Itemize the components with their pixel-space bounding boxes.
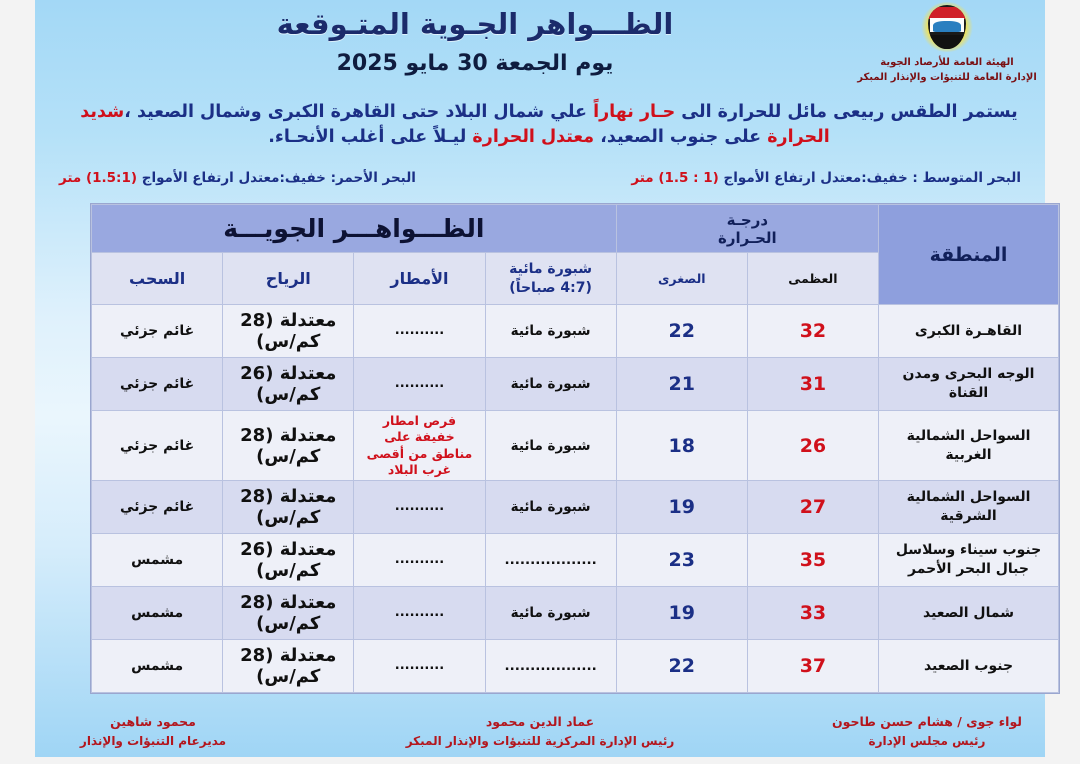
- cell-fog: شبورة مائية: [485, 358, 616, 411]
- red-sea-wave-height: (1.5:1) متر: [59, 170, 137, 186]
- cell-wind: معتدلة (28 كم/س): [223, 587, 354, 640]
- summary-part-7: ليـلاً على أغلب الأنحـاء.: [268, 127, 472, 147]
- cell-max-temp: 32: [747, 305, 878, 358]
- egypt-meteorological-authority-logo-icon: [919, 2, 975, 54]
- signature-name: عماد الدين محمود: [406, 712, 675, 732]
- column-header-fog: شبورة مائية (4:7 صباحاً): [485, 253, 616, 305]
- cell-rain: ..........: [354, 305, 485, 358]
- cell-region: السواحل الشمالية الغربية: [879, 411, 1059, 481]
- poster-page: الظـــواهر الجـوية المتـوقعة يوم الجمعة …: [0, 0, 1080, 764]
- table-row: جنوب الصعيد3722.........................…: [92, 640, 1059, 693]
- cell-fog: ..................: [485, 640, 616, 693]
- signature-role: رئيس مجلس الإدارة: [827, 732, 1027, 751]
- cell-max-temp: 35: [747, 534, 878, 587]
- cell-region: جنوب سيناء وسلاسل جبال البحر الأحمر: [879, 534, 1059, 587]
- authority-name-line1: الهيئة العامة للأرصاد الجوية: [857, 56, 1037, 71]
- fog-header-line2: (4:7 صباحاً): [486, 279, 616, 297]
- title-block: الظـــواهر الجـوية المتـوقعة يوم الجمعة …: [35, 6, 915, 76]
- cell-cloud: مشمس: [92, 640, 223, 693]
- forecast-table: المنطقة درجـة الحـرارة الظـــواهـــر الج…: [91, 204, 1059, 693]
- cell-rain: فرص امطار خفيفة على مناطق من أقصى غرب ال…: [354, 411, 485, 481]
- column-header-wind: الرياح: [223, 253, 354, 305]
- column-header-phenomena: الظـــواهـــر الجويـــة: [92, 205, 617, 253]
- cell-cloud: مشمس: [92, 534, 223, 587]
- column-header-cloud: السحب: [92, 253, 223, 305]
- temperature-header-line2: الحـرارة: [617, 229, 878, 247]
- signature-block-2: عماد الدين محمودرئيس الإدارة المركزية لل…: [406, 712, 675, 751]
- cell-rain: ..........: [354, 640, 485, 693]
- summary-part-1: يستمر الطقس ربيعى مائل للحرارة الى: [675, 102, 1018, 122]
- table-row: الوجه البحرى ومدن القناة3121شبورة مائية.…: [92, 358, 1059, 411]
- cell-max-temp: 33: [747, 587, 878, 640]
- mediterranean-wave-height: (1 : 1.5) متر: [631, 170, 718, 186]
- signature-role: رئيس الإدارة المركزية للتنبؤات والإنذار …: [406, 732, 675, 751]
- forecast-date: يوم الجمعة 30 مايو 2025: [35, 51, 915, 76]
- cell-fog: شبورة مائية: [485, 587, 616, 640]
- cell-rain: ..........: [354, 587, 485, 640]
- poster-panel: الظـــواهر الجـوية المتـوقعة يوم الجمعة …: [35, 0, 1045, 757]
- cell-wind: معتدلة (28 كم/س): [223, 305, 354, 358]
- cell-fog: شبورة مائية: [485, 411, 616, 481]
- cell-cloud: مشمس: [92, 587, 223, 640]
- cell-rain: ..........: [354, 481, 485, 534]
- forecast-summary: يستمر الطقس ربيعى مائل للحرارة الى حـار …: [35, 100, 1045, 150]
- cell-cloud: غائم جزئي: [92, 358, 223, 411]
- signature-role: مديرعام التنبؤات والإنذار: [53, 732, 253, 751]
- red-sea-label: البحر الأحمر: خفيف:معتدل ارتفاع الأمواج: [137, 170, 416, 186]
- cell-region: القاهـرة الكبرى: [879, 305, 1059, 358]
- fog-header-line1: شبورة مائية: [486, 260, 616, 278]
- authority-name-line2: الإدارة العامة للتنبؤات والإنذار المبكر: [857, 71, 1037, 86]
- cell-wind: معتدلة (28 كم/س): [223, 481, 354, 534]
- forecast-table-head: المنطقة درجـة الحـرارة الظـــواهـــر الج…: [92, 205, 1059, 305]
- cell-fog: شبورة مائية: [485, 481, 616, 534]
- temperature-header-line1: درجـة: [617, 211, 878, 229]
- table-row: السواحل الشمالية الشرقية2719شبورة مائية.…: [92, 481, 1059, 534]
- cell-wind: معتدلة (26 كم/س): [223, 358, 354, 411]
- cell-cloud: غائم جزئي: [92, 481, 223, 534]
- sea-conditions: البحر المتوسط : خفيف:معتدل ارتفاع الأموا…: [35, 170, 1045, 186]
- cell-region: جنوب الصعيد: [879, 640, 1059, 693]
- page-title: الظـــواهر الجـوية المتـوقعة: [35, 6, 915, 42]
- cell-min-temp: 21: [616, 358, 747, 411]
- signature-name: محمود شاهين: [53, 712, 253, 732]
- summary-part-6-mild: معتدل الحرارة: [472, 127, 594, 147]
- signature-block-3: لواء جوى / هشام حسن طاحونرئيس مجلس الإدا…: [827, 712, 1027, 751]
- signature-name: لواء جوى / هشام حسن طاحون: [827, 712, 1027, 732]
- summary-part-2-hot: حـار نهاراً: [593, 102, 675, 122]
- cell-min-temp: 18: [616, 411, 747, 481]
- cell-max-temp: 26: [747, 411, 878, 481]
- column-header-rain: الأمطار: [354, 253, 485, 305]
- forecast-table-wrapper: المنطقة درجـة الحـرارة الظـــواهـــر الج…: [90, 203, 1060, 694]
- cell-region: الوجه البحرى ومدن القناة: [879, 358, 1059, 411]
- cell-cloud: غائم جزئي: [92, 305, 223, 358]
- cell-region: السواحل الشمالية الشرقية: [879, 481, 1059, 534]
- signature-block-1: محمود شاهينمديرعام التنبؤات والإنذار: [53, 712, 253, 751]
- cell-min-temp: 22: [616, 640, 747, 693]
- cell-region: شمال الصعيد: [879, 587, 1059, 640]
- table-row: القاهـرة الكبرى3222شبورة مائية..........…: [92, 305, 1059, 358]
- logo-blue-cloud-icon: [933, 21, 961, 32]
- cell-min-temp: 23: [616, 534, 747, 587]
- table-row: السواحل الشمالية الغربية2618شبورة مائيةف…: [92, 411, 1059, 481]
- signature-footer: محمود شاهينمديرعام التنبؤات والإنذارعماد…: [35, 712, 1045, 751]
- cell-min-temp: 19: [616, 587, 747, 640]
- cell-fog: شبورة مائية: [485, 305, 616, 358]
- table-header-row-top: المنطقة درجـة الحـرارة الظـــواهـــر الج…: [92, 205, 1059, 253]
- table-row: جنوب سيناء وسلاسل جبال البحر الأحمر3523.…: [92, 534, 1059, 587]
- cell-wind: معتدلة (28 كم/س): [223, 640, 354, 693]
- column-header-min-temp: الصغرى: [616, 253, 747, 305]
- authority-logo-block: الهيئة العامة للأرصاد الجوية الإدارة الع…: [857, 2, 1037, 85]
- column-header-max-temp: العظمى: [747, 253, 878, 305]
- cell-rain: ..........: [354, 534, 485, 587]
- cell-cloud: غائم جزئي: [92, 411, 223, 481]
- column-header-temperature: درجـة الحـرارة: [616, 205, 878, 253]
- table-row: شمال الصعيد3319شبورة مائية..........معتد…: [92, 587, 1059, 640]
- cell-max-temp: 27: [747, 481, 878, 534]
- forecast-table-body: القاهـرة الكبرى3222شبورة مائية..........…: [92, 305, 1059, 693]
- cell-min-temp: 22: [616, 305, 747, 358]
- cell-min-temp: 19: [616, 481, 747, 534]
- cell-max-temp: 37: [747, 640, 878, 693]
- mediterranean-sea-conditions: البحر المتوسط : خفيف:معتدل ارتفاع الأموا…: [631, 170, 1021, 186]
- red-sea-conditions: البحر الأحمر: خفيف:معتدل ارتفاع الأمواج …: [59, 170, 416, 186]
- mediterranean-label: البحر المتوسط : خفيف:معتدل ارتفاع الأموا…: [719, 170, 1021, 186]
- logo-shield-icon: [928, 5, 966, 49]
- cell-fog: ..................: [485, 534, 616, 587]
- cell-rain: ..........: [354, 358, 485, 411]
- summary-part-3: علي شمال البلاد حتى القاهرة الكبرى وشمال…: [124, 102, 593, 122]
- logo-black-band-icon: [928, 35, 966, 49]
- column-header-region: المنطقة: [879, 205, 1059, 305]
- cell-max-temp: 31: [747, 358, 878, 411]
- cell-wind: معتدلة (28 كم/س): [223, 411, 354, 481]
- summary-part-5: على جنوب الصعيد،: [594, 127, 767, 147]
- poster-header: الظـــواهر الجـوية المتـوقعة يوم الجمعة …: [35, 0, 1045, 100]
- cell-wind: معتدلة (26 كم/س): [223, 534, 354, 587]
